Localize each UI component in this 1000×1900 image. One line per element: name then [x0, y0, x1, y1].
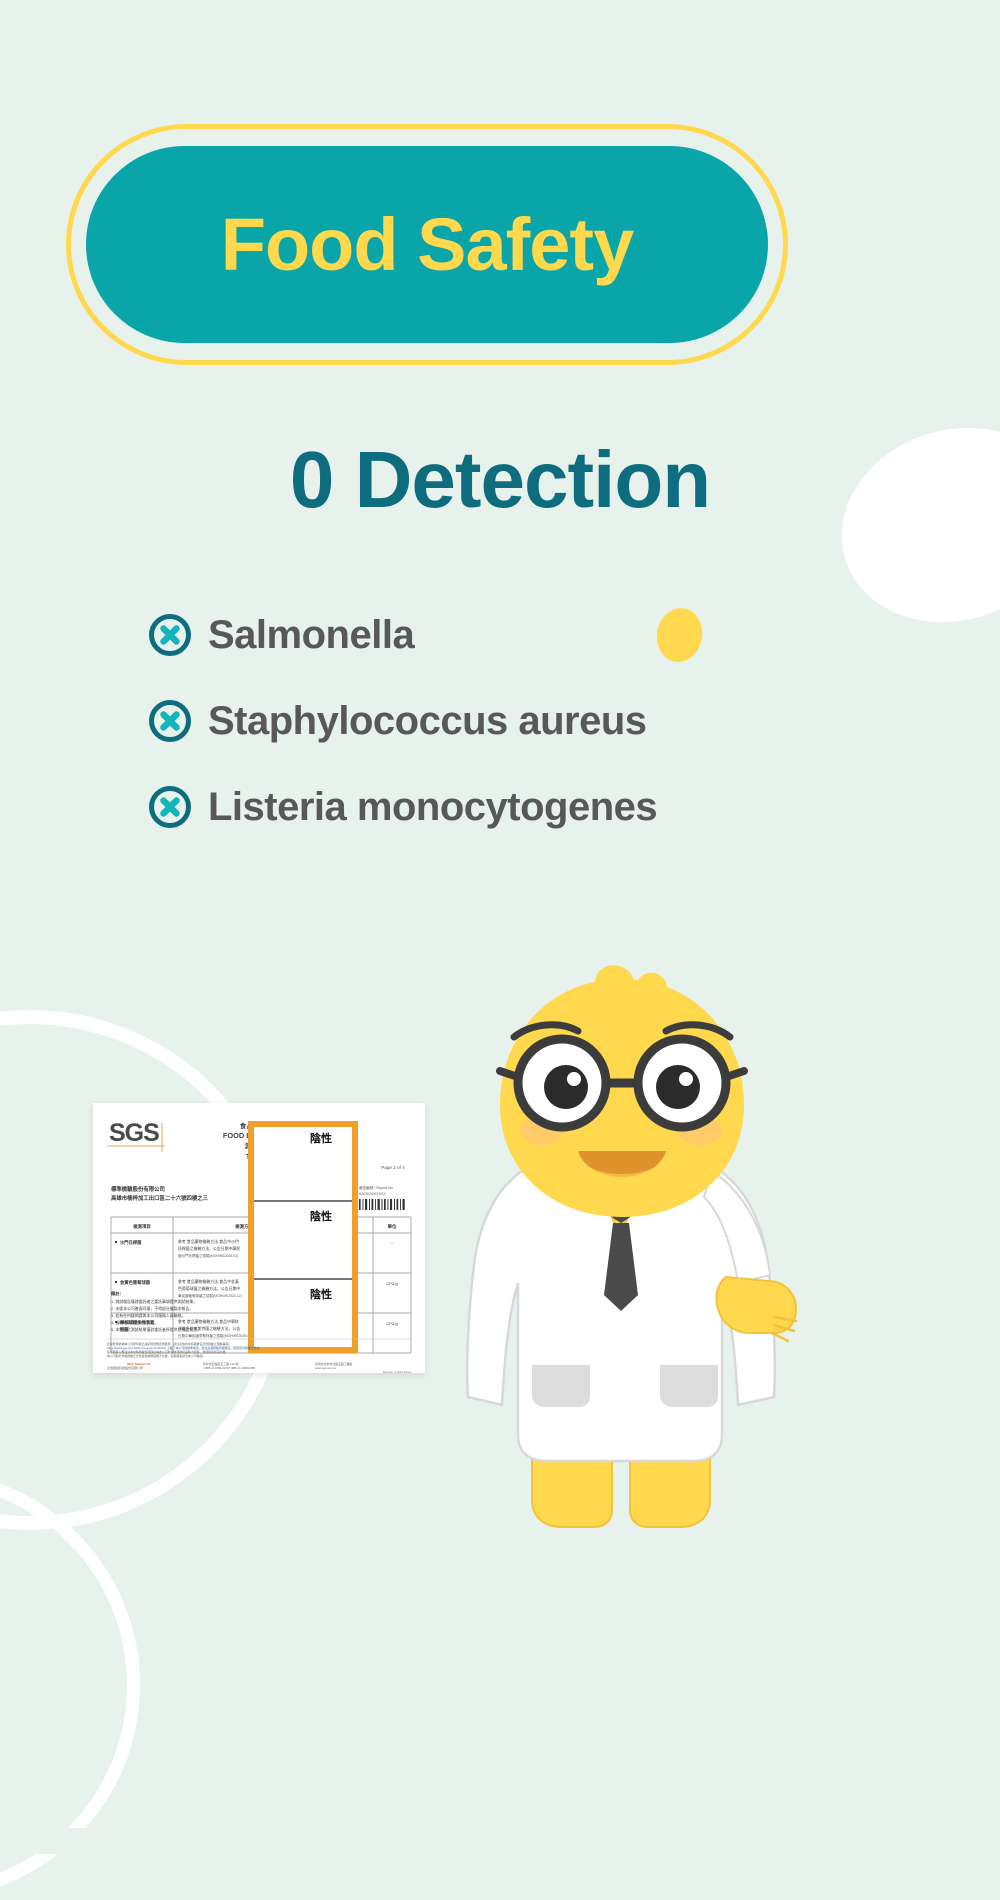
mascot-eye-right [656, 1065, 700, 1109]
svg-text:標準檢驗股份有限公司: 標準檢驗股份有限公司 [111, 1185, 165, 1193]
sgs-logo: SGS [107, 1119, 165, 1152]
svg-text:色葡萄球菌之檢驗方法，公告日期中: 色葡萄球菌之檢驗方法，公告日期中 [178, 1286, 240, 1291]
svg-text:t (886-2) 2299-3279 f (886-: t (886-2) 2299-3279 f (886-2) 2298-0488 [203, 1366, 255, 1370]
svg-text:日期中華民國李斯特菌之檢驗(MOHWS2025.05): 日期中華民國李斯特菌之檢驗(MOHWS2025.05) [178, 1333, 252, 1338]
report-addressee: 標準檢驗股份有限公司 高雄市楠梓加工出口區二十六號四樓之三 [111, 1185, 209, 1202]
svg-text:沙門氏桿菌: 沙門氏桿菌 [120, 1239, 142, 1246]
page-title: Food Safety [221, 208, 633, 282]
mascot-head [500, 965, 744, 1217]
svg-text:1. 測試報告僅就委託者之委託事項提供測試結果。: 1. 測試報告僅就委託者之委託事項提供測試結果。 [111, 1299, 197, 1304]
list-item: Staphylococcus aureus [148, 690, 848, 752]
svg-text:參考 食品藥物檢驗方法-食品中單核: 參考 食品藥物檢驗方法-食品中單核 [178, 1319, 239, 1324]
svg-text:華民國葡萄球菌之檢驗(MOHWS2023.12): 華民國葡萄球菌之檢驗(MOHWS2023.12) [178, 1293, 242, 1298]
svg-text:金黃色葡萄球菌: 金黃色葡萄球菌 [119, 1279, 151, 1286]
circle-x-icon [148, 613, 192, 657]
svg-text:本公司對於未經授權之文件變造或偽造概不負責，如有疑義請洽本公: 本公司對於未經授權之文件變造或偽造概不負責，如有疑義請洽本公司確認。 [107, 1353, 205, 1358]
scientist-character [382, 965, 822, 1550]
svg-text:參考 食品藥物檢驗方法-食品中沙門: 參考 食品藥物檢驗方法-食品中沙門 [178, 1239, 239, 1244]
list-item: Listeria monocytogenes [148, 776, 848, 838]
svg-text:SGS: SGS [109, 1119, 159, 1147]
svg-text:備註：: 備註： [111, 1290, 124, 1297]
negative-result: 陰性 [310, 1131, 332, 1145]
list-item: Salmonella [148, 604, 848, 666]
list-item-label: Staphylococcus aureus [208, 699, 647, 744]
footer-company-zh: 台灣檢驗科技股份有限公司 [107, 1365, 143, 1370]
list-item-label: Salmonella [208, 613, 414, 658]
header-pill: Food Safety [86, 146, 768, 343]
negative-results-highlight: 陰性 陰性 陰性 [251, 1124, 355, 1350]
svg-text:4. 檢驗結果僅對來樣負責。: 4. 檢驗結果僅對來樣負責。 [111, 1320, 158, 1325]
svg-text:國沙門氏桿菌之檢驗(MOHWS2025.01): 國沙門氏桿菌之檢驗(MOHWS2025.01) [178, 1253, 238, 1258]
svg-text:高雄市楠梓加工出口區二十六號四樓之三: 高雄市楠梓加工出口區二十六號四樓之三 [111, 1194, 209, 1202]
circle-x-icon [148, 785, 192, 829]
bottom-spacer [0, 1828, 1000, 1854]
negative-result: 陰性 [310, 1209, 332, 1223]
table-header-item: 檢測項目 [133, 1223, 151, 1230]
circle-x-icon [148, 699, 192, 743]
list-item-label: Listeria monocytogenes [208, 785, 657, 830]
report-content: SGS 食品實驗室-高雄 FOOD LAB-KAOHSIUNG 測 試 報 告 … [93, 1103, 425, 1373]
svg-text:5. 本報告之測試結果僅對委託者所提供之樣品負責。: 5. 本報告之測試結果僅對委託者所提供之樣品負責。 [111, 1327, 201, 1332]
svg-text:參考 食品藥物檢驗方法-食品中金黃: 參考 食品藥物檢驗方法-食品中金黃 [178, 1279, 239, 1284]
negative-result: 陰性 [310, 1287, 332, 1301]
sgs-test-report-document[interactable]: SGS 食品實驗室-高雄 FOOD LAB-KAOHSIUNG 測 試 報 告 … [93, 1103, 425, 1373]
svg-text:氏桿菌之檢驗方法，公告日期中華民: 氏桿菌之檢驗方法，公告日期中華民 [178, 1246, 240, 1251]
svg-text:3. 若有任何疑問請與本公司服務人員聯絡。: 3. 若有任何疑問請與本公司服務人員聯絡。 [111, 1313, 185, 1318]
svg-text:2. 未經本公司書面同意，不得部分複製本報告。: 2. 未經本公司書面同意，不得部分複製本報告。 [111, 1306, 193, 1311]
headline-zero-detection: 0 Detection [0, 434, 1000, 526]
svg-text:www.sgs.com.tw: www.sgs.com.tw [315, 1366, 337, 1370]
mascot-eye-left [544, 1065, 588, 1109]
detection-list: Salmonella Staphylococcus aureus Listeri… [148, 604, 848, 862]
